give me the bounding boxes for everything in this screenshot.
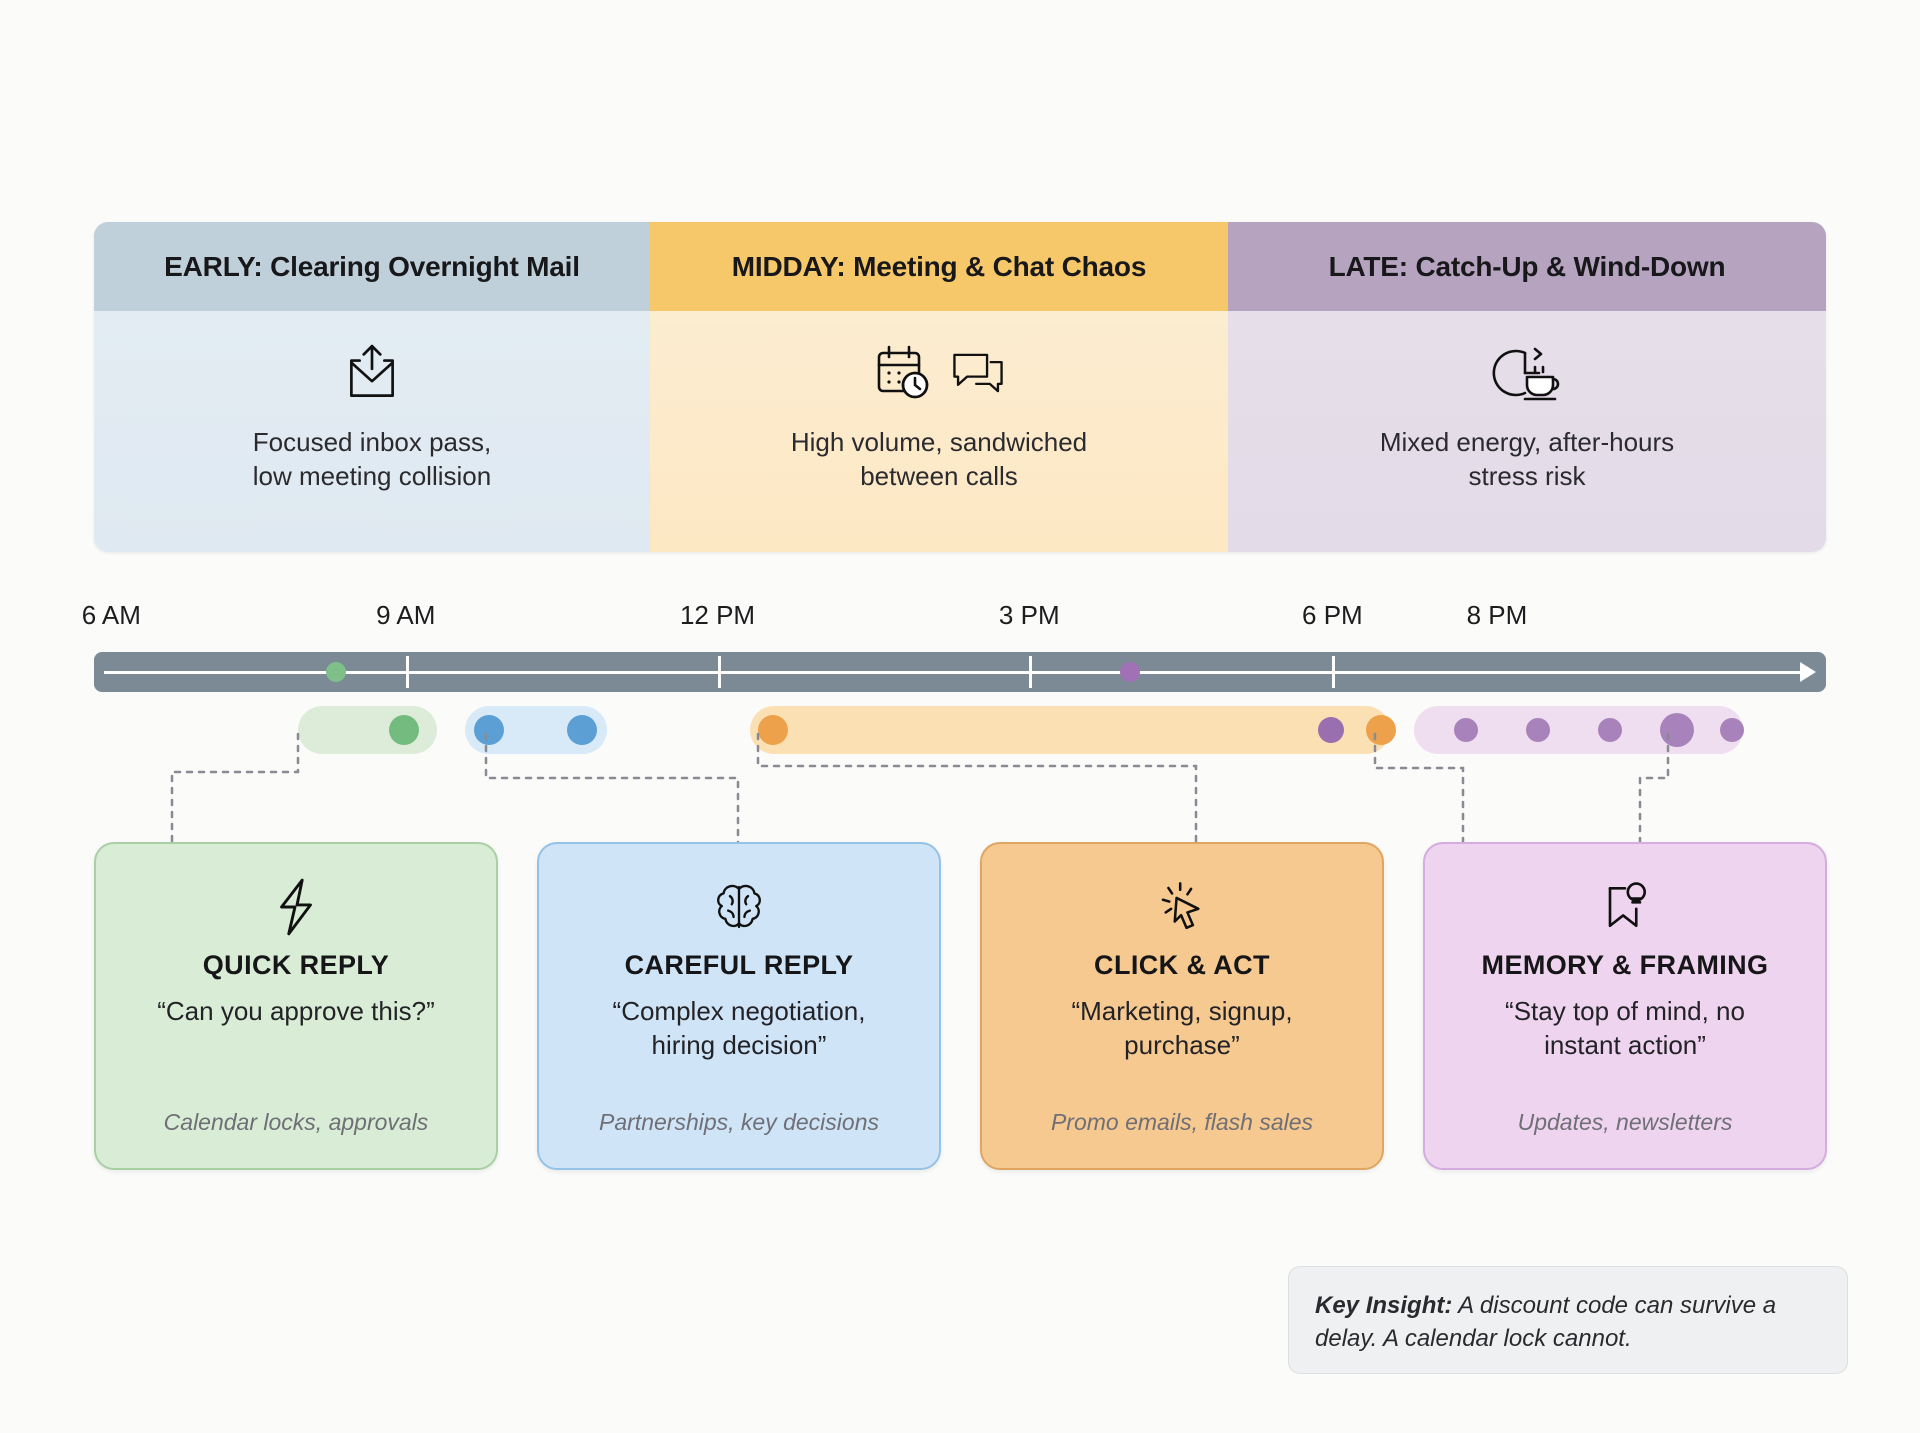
timeline-label-5: 8 PM <box>1467 600 1528 631</box>
category-cards: QUICK REPLY “Can you approve this?” Cale… <box>94 842 1826 1170</box>
card-note: Updates, newsletters <box>1425 1109 1825 1136</box>
card-note: Calendar locks, approvals <box>96 1109 496 1136</box>
timeline-label-0: 6 AM <box>82 600 141 631</box>
key-insight-box: Key Insight: A discount code can survive… <box>1288 1266 1848 1374</box>
phase-band: EARLY: Clearing Overnight Mail Focused i… <box>94 222 1826 552</box>
activity-dot-click-act-0[interactable] <box>758 715 788 745</box>
activity-dot-click-act-1[interactable] <box>1366 715 1396 745</box>
card-note: Partnerships, key decisions <box>539 1109 939 1136</box>
phase-title-late: LATE: Catch-Up & Wind-Down <box>1228 222 1826 311</box>
brain-icon <box>710 870 768 944</box>
phase-panel-late: LATE: Catch-Up & Wind-Down Mixed energy,… <box>1228 222 1826 552</box>
phase-title-early: EARLY: Clearing Overnight Mail <box>94 222 650 311</box>
activity-dot-memory-framing-0[interactable] <box>1454 718 1478 742</box>
activity-dot-quick-reply-0[interactable] <box>389 715 419 745</box>
clock-coffee-icon <box>1491 339 1563 411</box>
activity-dot-careful-reply-0[interactable] <box>474 715 504 745</box>
activity-dot-memory-framing-1[interactable] <box>1526 718 1550 742</box>
timeline-label-2: 12 PM <box>680 600 755 631</box>
calendar-clock-icon <box>871 341 935 410</box>
card-quote: “Stay top of mind, no instant action” <box>1483 995 1767 1063</box>
card-title: CAREFUL REPLY <box>625 950 854 981</box>
key-insight-label: Key Insight: <box>1315 1292 1452 1319</box>
card-memory-framing[interactable]: MEMORY & FRAMING “Stay top of mind, no i… <box>1423 842 1827 1170</box>
phase-body-midday: High volume, sandwiched between calls <box>650 311 1228 552</box>
card-note: Promo emails, flash sales <box>982 1109 1382 1136</box>
phase-body-late: Mixed energy, after-hours stress risk <box>1228 311 1826 552</box>
envelope-upload-icon <box>339 339 405 411</box>
activity-dot-memory-framing-4[interactable] <box>1720 718 1744 742</box>
card-quote: “Complex negotiation, hiring decision” <box>591 995 888 1063</box>
timeline-axis <box>94 652 1826 692</box>
axis-tick-2 <box>1029 656 1032 688</box>
card-title: QUICK REPLY <box>203 950 389 981</box>
card-quote: “Marketing, signup, purchase” <box>1049 995 1314 1063</box>
phase-desc-late: Mixed energy, after-hours stress risk <box>1364 425 1690 494</box>
timeline-labels: 6 AM9 AM12 PM3 PM6 PM8 PM <box>94 600 1826 634</box>
timeline-label-1: 9 AM <box>376 600 435 631</box>
card-quick-reply[interactable]: QUICK REPLY “Can you approve this?” Cale… <box>94 842 498 1170</box>
activity-dot-overlap-0[interactable] <box>1318 717 1344 743</box>
card-title: MEMORY & FRAMING <box>1482 950 1769 981</box>
timeline-label-4: 6 PM <box>1302 600 1363 631</box>
axis-tick-3 <box>1332 656 1335 688</box>
card-click-act[interactable]: CLICK & ACT “Marketing, signup, purchase… <box>980 842 1384 1170</box>
phase-panel-midday: MIDDAY: Meeting & Chat Chaos <box>650 222 1228 552</box>
activity-bands <box>0 706 1920 754</box>
activity-band-click-act <box>750 706 1389 754</box>
bookmark-lightbulb-icon <box>1595 870 1655 944</box>
memory-framing-marker[interactable] <box>1120 662 1140 682</box>
activity-dot-memory-framing-3[interactable] <box>1660 713 1694 747</box>
axis-tick-1 <box>718 656 721 688</box>
phase-panel-early: EARLY: Clearing Overnight Mail Focused i… <box>94 222 650 552</box>
axis-line <box>104 671 1804 674</box>
lightning-bolt-icon <box>270 870 322 944</box>
phase-desc-midday: High volume, sandwiched between calls <box>775 425 1103 494</box>
axis-tick-0 <box>406 656 409 688</box>
cursor-click-icon <box>1153 870 1211 944</box>
phase-desc-early: Focused inbox pass, low meeting collisio… <box>237 425 507 494</box>
phase-body-early: Focused inbox pass, low meeting collisio… <box>94 311 650 552</box>
card-careful-reply[interactable]: CAREFUL REPLY “Complex negotiation, hiri… <box>537 842 941 1170</box>
infographic-canvas: EARLY: Clearing Overnight Mail Focused i… <box>0 0 1920 1433</box>
card-quote: “Can you approve this?” <box>135 995 456 1029</box>
axis-arrow-icon <box>1800 662 1816 682</box>
phase-title-midday: MIDDAY: Meeting & Chat Chaos <box>650 222 1228 311</box>
quick-reply-marker[interactable] <box>326 662 346 682</box>
chat-bubbles-icon <box>949 344 1007 407</box>
activity-dot-careful-reply-1[interactable] <box>567 715 597 745</box>
activity-dot-memory-framing-2[interactable] <box>1598 718 1622 742</box>
card-title: CLICK & ACT <box>1094 950 1270 981</box>
timeline-label-3: 3 PM <box>999 600 1060 631</box>
